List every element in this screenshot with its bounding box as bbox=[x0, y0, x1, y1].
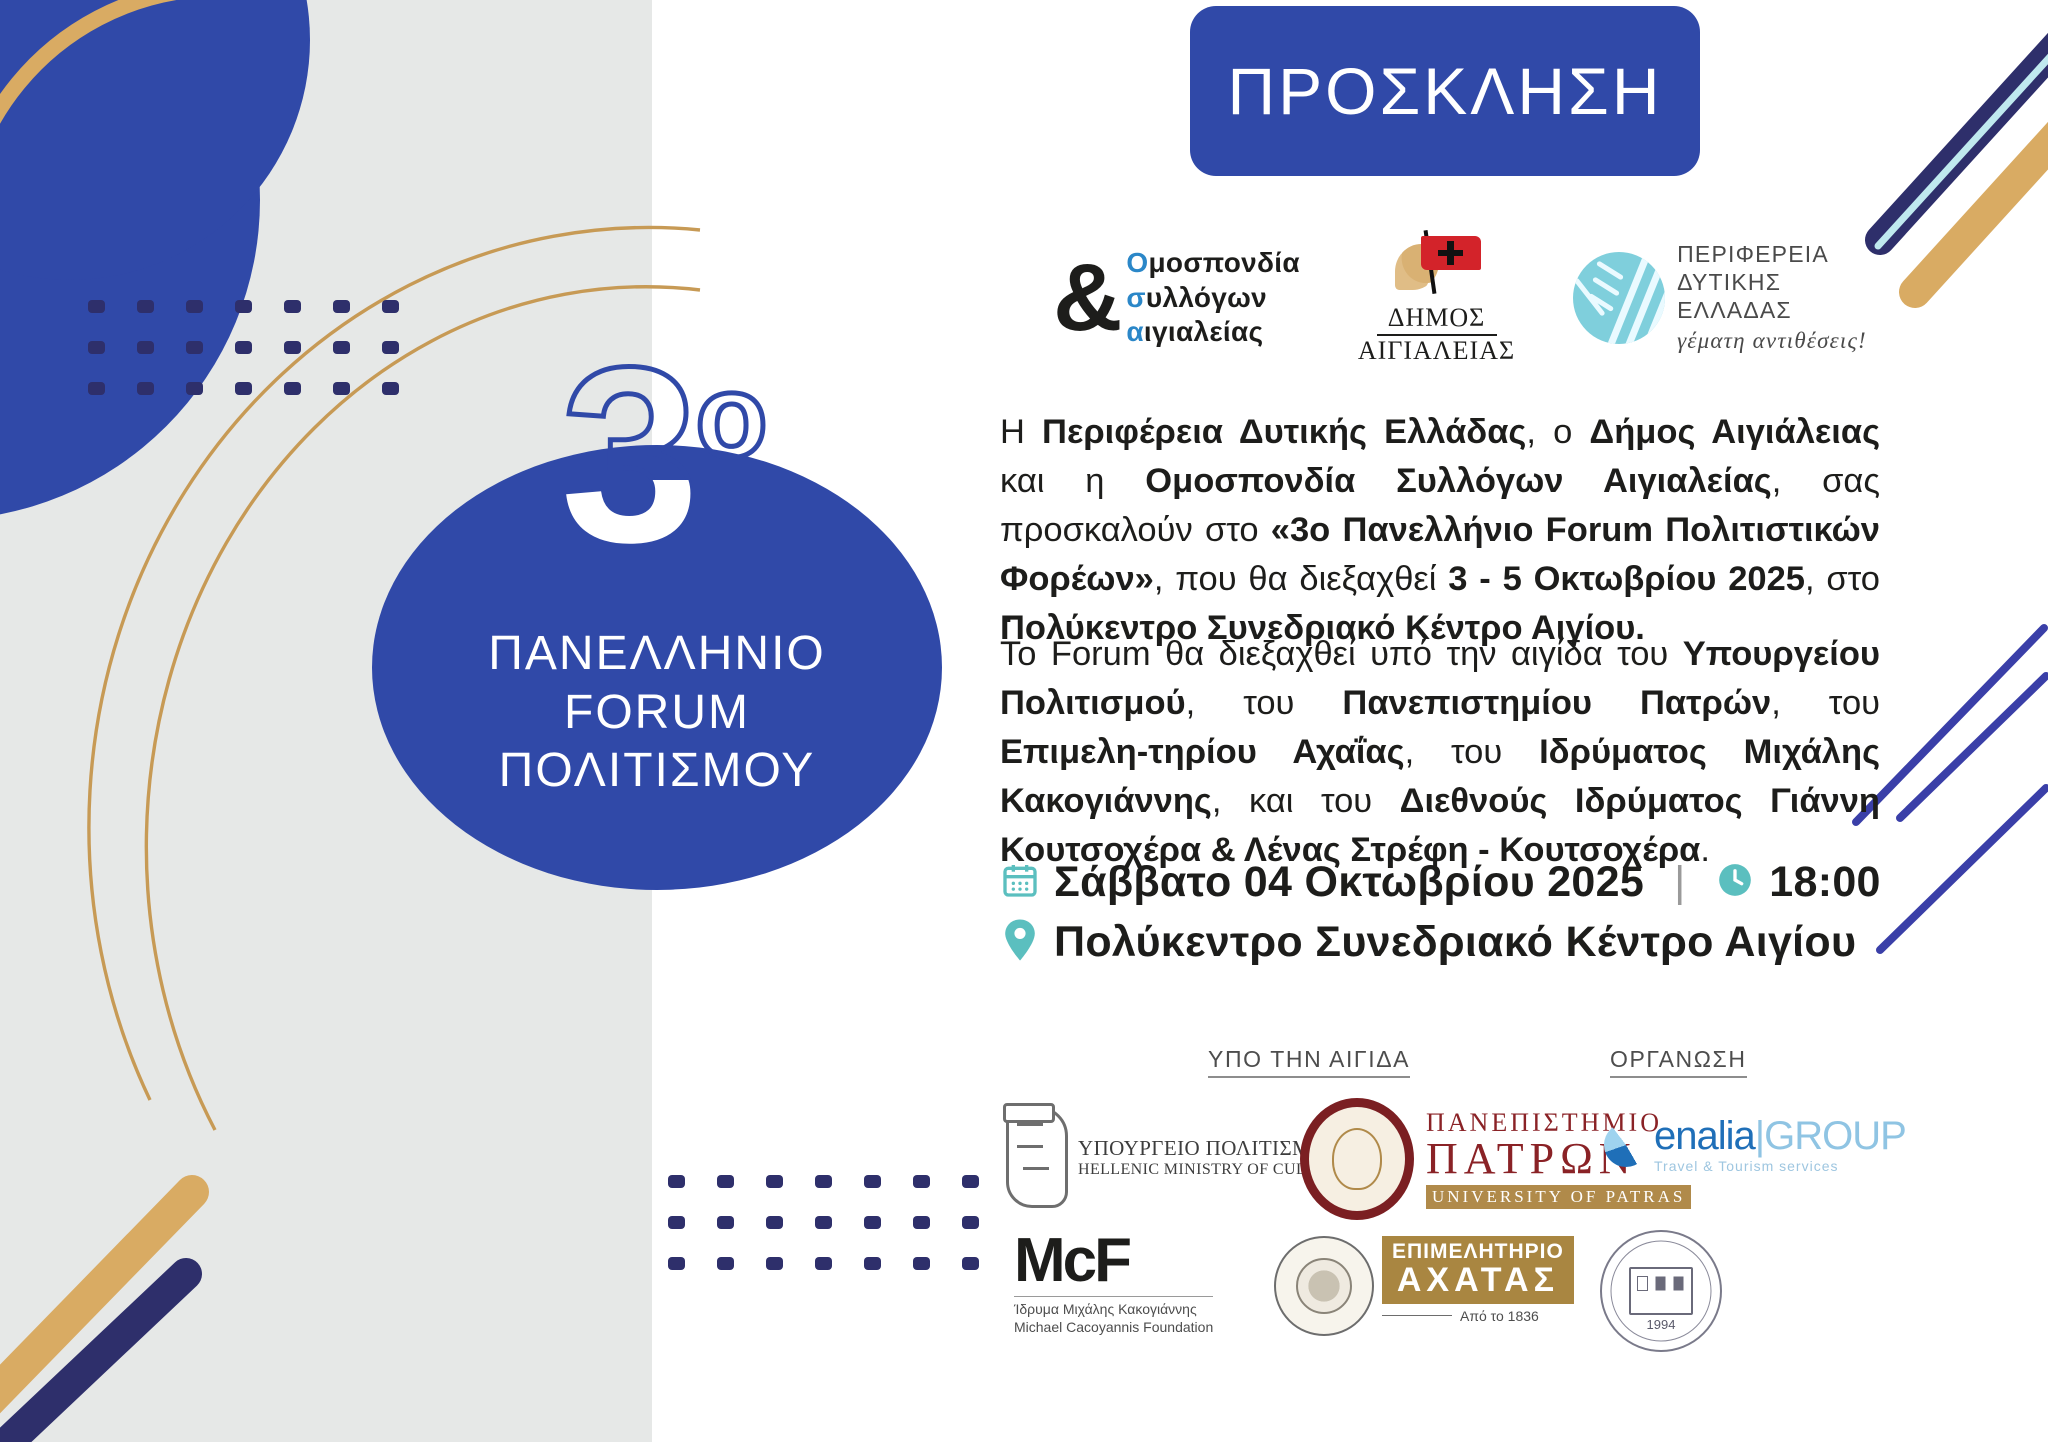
event-date-row: Σάββατο 04 Οκτωβρίου 2025 | 18:00 bbox=[1000, 858, 1900, 907]
achaia-chamber-logo: ΕΠΙΜΕΛΗΤΗΡΙΟ ΑΧΑΤΑΣ Από το 1836 bbox=[1274, 1236, 1574, 1336]
sponsor-row-1: ΥΠΟΥΡΓΕΙΟ ΠΟΛΙΤΙΣΜΟΥ HELLENIC MINISTRY O… bbox=[1000, 1098, 1920, 1218]
federation-rest-1: μοσπονδία bbox=[1149, 247, 1300, 278]
federation-ampersand-mark: & bbox=[1053, 259, 1112, 338]
event-time-text: 18:00 bbox=[1769, 858, 1880, 907]
federation-logo: & Ομοσπονδία συλλόγων αιγιαλείας bbox=[1053, 247, 1300, 348]
region-logo: ΠΕΡΙΦΕΡΕΙΑ ΔΥΤΙΚΗΣ ΕΛΛΑΔΑΣ γέματη αντιθέ… bbox=[1573, 241, 1867, 354]
enalia-group: GROUP bbox=[1764, 1114, 1906, 1158]
federation-line-3: αιγιαλείας bbox=[1126, 316, 1300, 348]
municipality-line-1: ΔΗΜΟΣ bbox=[1358, 304, 1515, 333]
federation-accent-1: Ο bbox=[1126, 247, 1148, 278]
event-venue-row: Πολύκεντρο Συνεδριακό Κέντρο Αιγίου bbox=[1000, 917, 1900, 968]
paragraph-separator-dot: . bbox=[1004, 592, 1013, 631]
region-line-3: ΕΛΛΑΔΑΣ bbox=[1677, 297, 1867, 325]
brand-title: ΠΑΝΕΛΛΗΝΙΟ FORUM ΠΟΛΙΤΙΣΜΟΥ bbox=[372, 625, 942, 801]
municipality-wordmark: ΔΗΜΟΣ ΑΙΓΙΑΛΕΙΑΣ bbox=[1358, 304, 1515, 365]
koutsochera-seal-icon: 1994 bbox=[1600, 1230, 1722, 1352]
federation-line-2: συλλόγων bbox=[1126, 282, 1300, 314]
mcf-line-1: Ίδρυμα Μιχάλης Κακογιάννης bbox=[1014, 1300, 1213, 1318]
achaia-since-text: Από το 1836 bbox=[1460, 1308, 1539, 1324]
heading-organizer: ΟΡΓΑΝΩΣΗ bbox=[1610, 1046, 1747, 1078]
region-emblem-icon bbox=[1573, 252, 1665, 344]
brand-title-line2: FORUM bbox=[372, 684, 942, 743]
invitation-poster: 3o 3o ΠΑΝΕΛΛΗΝΙΟ FORUM ΠΟΛΙΤΙΣΜΟΥ ΠΡΟΣΚΛ… bbox=[0, 0, 2048, 1442]
invitation-paragraph-1: Η Περιφέρεια Δυτικής Ελλάδας, ο Δήμος Αι… bbox=[1000, 408, 1880, 653]
sponsor-row-2: McF Ίδρυμα Μιχάλης Κακογιάννης Michael C… bbox=[1000, 1230, 1920, 1370]
patras-seal-icon bbox=[1300, 1098, 1414, 1220]
enalia-name-row: enalia|GROUP bbox=[1654, 1116, 1906, 1156]
event-details: Σάββατο 04 Οκτωβρίου 2025 | 18:00 bbox=[1000, 858, 1900, 978]
forum-brand-logo: 3o 3o ΠΑΝΕΛΛΗΝΙΟ FORUM ΠΟΛΙΤΙΣΜΟΥ bbox=[352, 330, 972, 890]
mcf-wordmark: Ίδρυμα Μιχάλης Κακογιάννης Michael Cacoy… bbox=[1014, 1296, 1213, 1336]
achaia-seal-icon bbox=[1274, 1236, 1374, 1336]
federation-accent-3: α bbox=[1126, 316, 1144, 347]
federation-accent-2: σ bbox=[1126, 282, 1145, 313]
invitation-badge: ΠΡΟΣΚΛΗΣΗ bbox=[1190, 6, 1700, 176]
mcf-line-2: Michael Cacoyannis Foundation bbox=[1014, 1318, 1213, 1336]
region-line-1: ΠΕΡΙΦΕΡΕΙΑ bbox=[1677, 241, 1867, 269]
enalia-wordmark: enalia|GROUP Travel & Tourism services bbox=[1654, 1116, 1906, 1174]
host-logo-strip: & Ομοσπονδία συλλόγων αιγιαλείας ΔΗΜΟΣ bbox=[1000, 228, 1920, 368]
koutsochera-year: 1994 bbox=[1602, 1317, 1720, 1332]
municipality-logo: ΔΗΜΟΣ ΑΙΓΙΑΛΕΙΑΣ bbox=[1358, 230, 1515, 365]
region-line-2: ΔΥΤΙΚΗΣ bbox=[1677, 269, 1867, 297]
enalia-group-logo: enalia|GROUP Travel & Tourism services bbox=[1604, 1116, 1906, 1174]
federation-line-1: Ομοσπονδία bbox=[1126, 247, 1300, 279]
achaia-line-2: ΑΧΑΤΑΣ bbox=[1392, 1263, 1564, 1299]
federation-rest-3: ιγιαλείας bbox=[1144, 316, 1263, 347]
invitation-paragraph-2: Το Forum θα διεξαχθεί υπό την αιγίδα του… bbox=[1000, 630, 1880, 875]
cross-horizontal-icon bbox=[1438, 250, 1463, 256]
calendar-icon bbox=[1000, 859, 1040, 906]
enalia-divider: | bbox=[1755, 1114, 1764, 1158]
event-separator: | bbox=[1674, 858, 1685, 907]
brand-title-line3: ΠΟΛΙΤΙΣΜΟΥ bbox=[372, 742, 942, 801]
achaia-rule bbox=[1382, 1315, 1452, 1316]
enalia-tagline: Travel & Tourism services bbox=[1654, 1158, 1906, 1174]
achaia-since-row: Από το 1836 bbox=[1382, 1308, 1574, 1324]
ministry-of-culture-logo: ΥΠΟΥΡΓΕΙΟ ΠΟΛΙΤΙΣΜΟΥ HELLENIC MINISTRY O… bbox=[1006, 1106, 1348, 1208]
federation-wordmark: Ομοσπονδία συλλόγων αιγιαλείας bbox=[1126, 247, 1300, 348]
achaia-wordmark: ΕΠΙΜΕΛΗΤΗΡΙΟ ΑΧΑΤΑΣ Από το 1836 bbox=[1382, 1236, 1574, 1324]
mcf-monogram: McF bbox=[1014, 1230, 1213, 1292]
clock-icon bbox=[1715, 859, 1755, 906]
content-column: ΠΡΟΣΚΛΗΣΗ & Ομοσπονδία συλλόγων αιγιαλεί… bbox=[1000, 0, 1920, 1442]
invitation-badge-label: ΠΡΟΣΚΛΗΣΗ bbox=[1227, 53, 1662, 129]
location-pin-icon bbox=[1000, 917, 1040, 968]
enalia-name: enalia bbox=[1654, 1114, 1755, 1158]
brand-degree-symbol: o bbox=[695, 351, 763, 483]
patras-line-3: UNIVERSITY OF PATRAS bbox=[1426, 1185, 1691, 1209]
event-date-text: Σάββατο 04 Οκτωβρίου 2025 bbox=[1054, 858, 1644, 907]
dot-grid-bottom bbox=[668, 1175, 979, 1270]
region-tagline: γέματη αντιθέσεις! bbox=[1677, 327, 1867, 355]
building-icon bbox=[1629, 1267, 1693, 1315]
achaia-line-1: ΕΠΙΜΕΛΗΤΗΡΙΟ bbox=[1392, 1241, 1564, 1263]
municipality-emblem-icon bbox=[1383, 230, 1491, 302]
region-wordmark: ΠΕΡΙΦΕΡΕΙΑ ΔΥΤΙΚΗΣ ΕΛΛΑΔΑΣ γέματη αντιθέ… bbox=[1677, 241, 1867, 354]
municipality-line-2: ΑΙΓΙΑΛΕΙΑΣ bbox=[1358, 337, 1515, 366]
achaia-name-box: ΕΠΙΜΕΛΗΤΗΡΙΟ ΑΧΑΤΑΣ bbox=[1382, 1236, 1574, 1304]
federation-rest-2: υλλόγων bbox=[1146, 282, 1267, 313]
caryatid-icon bbox=[1006, 1106, 1068, 1208]
cacoyannis-foundation-logo: McF Ίδρυμα Μιχάλης Κακογιάννης Michael C… bbox=[1014, 1230, 1213, 1336]
event-venue-text: Πολύκεντρο Συνεδριακό Κέντρο Αιγίου bbox=[1054, 918, 1856, 967]
heading-under-auspices: ΥΠΟ ΤΗΝ ΑΙΓΙΔΑ bbox=[1208, 1046, 1410, 1078]
koutsochera-foundation-logo: 1994 bbox=[1600, 1230, 1722, 1352]
brand-title-line1: ΠΑΝΕΛΛΗΝΙΟ bbox=[372, 625, 942, 684]
wave-swoosh-icon bbox=[1604, 1123, 1648, 1167]
